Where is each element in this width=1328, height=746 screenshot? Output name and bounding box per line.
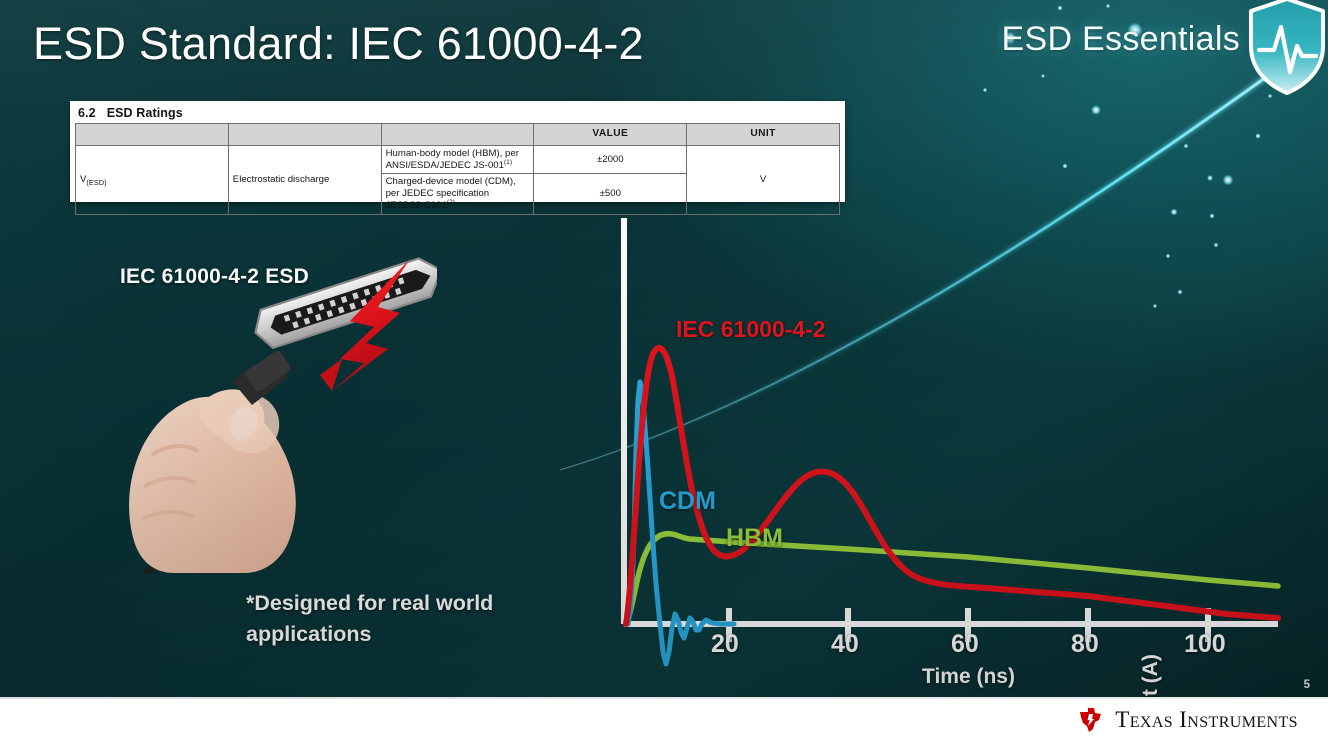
cell-unit: V <box>687 146 840 215</box>
company-name: Texas Instruments <box>1115 707 1298 733</box>
cell-parameter: Electrostatic discharge <box>228 146 381 215</box>
condition-text-cdm: Charged-device model (CDM), per JEDEC sp… <box>386 176 516 210</box>
cell-value-hbm: ±2000 <box>534 146 687 174</box>
series-label-cdm: CDM <box>659 487 716 516</box>
table-section-heading: 6.2ESD Ratings <box>78 106 840 120</box>
x-axis-label: Time (ns) <box>922 665 1015 689</box>
esd-ratings-table-panel: 6.2ESD Ratings VALUE UNIT V(ESD) Electro… <box>70 101 845 202</box>
table-row: V(ESD) Electrostatic discharge Human-bod… <box>76 146 840 174</box>
table-row: Charged-device model (CDM), per JEDEC sp… <box>76 174 840 214</box>
x-tick-label-60: 60 <box>951 630 979 659</box>
header-value: VALUE <box>534 124 687 146</box>
x-tick-label-40: 40 <box>831 630 859 659</box>
x-tick-label-20: 20 <box>711 630 739 659</box>
footnote-marker-1: (1) <box>504 159 512 166</box>
slide-background: ESD Standard: IEC 61000-4-2 ESD Essentia… <box>0 0 1328 697</box>
illustration-label: IEC 61000-4-2 ESD <box>120 265 309 289</box>
x-axis-ticks <box>729 608 1208 642</box>
background-decoration <box>0 0 1328 697</box>
iec-curve <box>626 348 1278 624</box>
y-axis-label-wrapper: Current (A) <box>566 368 600 528</box>
x-tick-label-100: 100 <box>1184 630 1226 659</box>
header-blank-symbol <box>76 124 229 146</box>
header-blank-condition <box>381 124 534 146</box>
series-label-iec: IEC 61000-4-2 <box>676 316 826 343</box>
footnote-marker-2: (2) <box>447 199 455 206</box>
note-text: *Designed for real world applications <box>246 588 576 649</box>
hand-holding-hdmi-connector <box>92 255 437 575</box>
header-unit: UNIT <box>687 124 840 146</box>
hbm-curve <box>626 534 1278 624</box>
shield-pulse-icon <box>1244 0 1328 98</box>
texas-instruments-logo: Texas Instruments <box>1076 705 1298 735</box>
table-section-title: ESD Ratings <box>107 106 183 120</box>
slide: ESD Standard: IEC 61000-4-2 ESD Essentia… <box>0 0 1328 746</box>
slide-title: ESD Standard: IEC 61000-4-2 <box>33 18 644 70</box>
table-section-number: 6.2 <box>78 106 96 120</box>
cell-condition-cdm: Charged-device model (CDM), per JEDEC sp… <box>381 174 534 214</box>
x-tick-label-80: 80 <box>1071 630 1099 659</box>
condition-text-hbm: Human-body model (HBM), per ANSI/ESDA/JE… <box>386 148 519 171</box>
symbol-subscript: (ESD) <box>86 178 106 187</box>
cell-value-cdm: ±500 <box>534 174 687 214</box>
cdm-curve <box>626 382 734 664</box>
brand-label: ESD Essentials <box>1001 20 1240 59</box>
series-label-hbm: HBM <box>726 524 783 553</box>
slide-footer: Texas Instruments <box>0 697 1328 746</box>
ti-texas-map-icon <box>1076 705 1106 735</box>
lightning-bolt-icon <box>332 259 410 391</box>
cell-condition-hbm: Human-body model (HBM), per ANSI/ESDA/JE… <box>381 146 534 174</box>
esd-ratings-table: VALUE UNIT V(ESD) Electrostatic discharg… <box>75 123 840 215</box>
esd-waveform-chart <box>566 200 1306 697</box>
table-header-row: VALUE UNIT <box>76 124 840 146</box>
symbol-main: V <box>80 174 86 185</box>
cell-symbol: V(ESD) <box>76 146 229 215</box>
slide-page-number: 5 <box>1304 679 1310 691</box>
header-blank-parameter <box>228 124 381 146</box>
